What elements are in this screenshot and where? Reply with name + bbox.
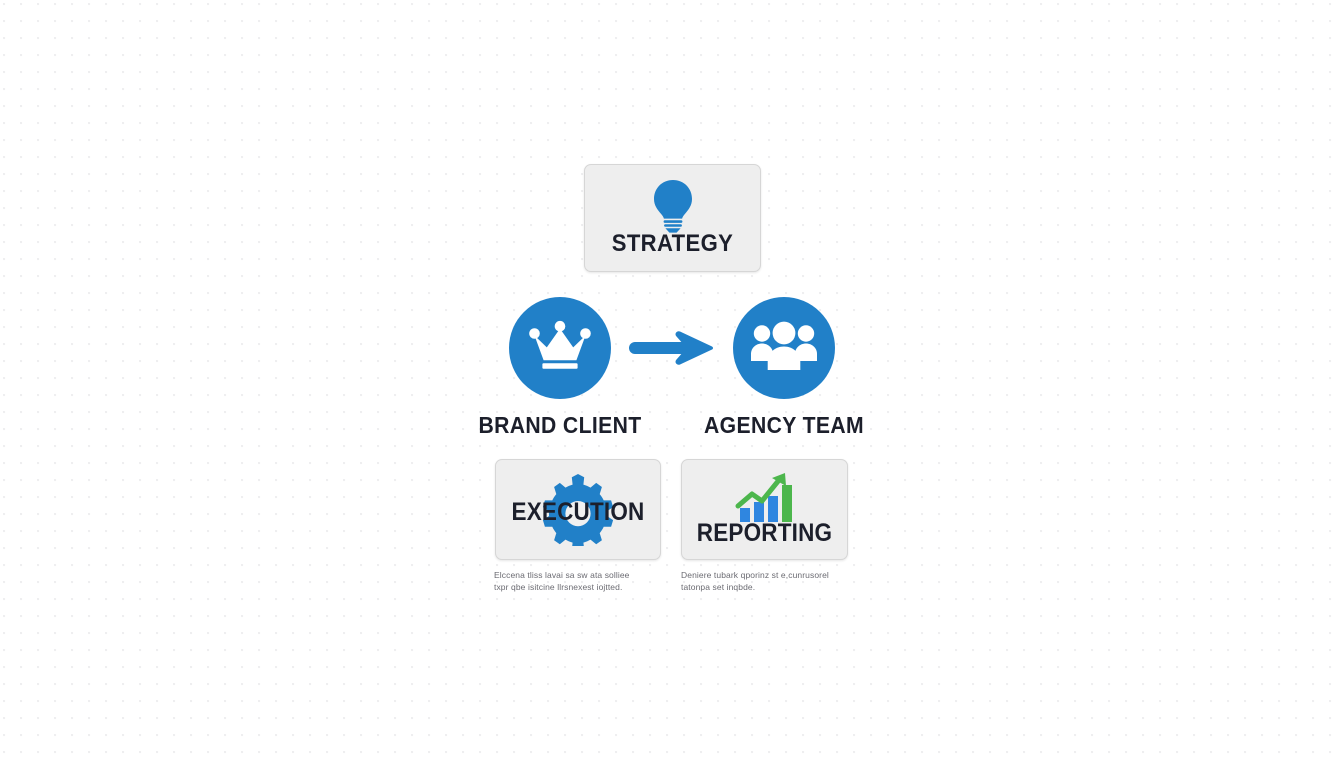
reporting-card[interactable]: REPORTING: [681, 459, 848, 560]
arrow-right-icon: [628, 326, 716, 370]
strategy-card[interactable]: STRATEGY: [584, 164, 761, 272]
crown-icon: [529, 320, 591, 377]
execution-label: EXECUTION: [504, 498, 652, 527]
lightbulb-icon: [650, 179, 696, 233]
execution-caption: Elccena tliss lavai sa sw ata solliee tx…: [494, 569, 654, 593]
bar-chart-growth-icon: [732, 472, 798, 522]
agency-team-node[interactable]: AGENCY TEAM: [733, 297, 835, 399]
brand-client-node[interactable]: BRAND CLIENT: [509, 297, 611, 399]
brand-client-circle: [509, 297, 611, 399]
execution-card-inner: EXECUTION: [496, 460, 660, 559]
diagram-canvas: STRATEGY BRAND CLIENT: [0, 0, 1344, 768]
execution-caption-line-1: Elccena tliss lavai sa sw ata solliee: [494, 569, 654, 581]
reporting-caption-line-1: Deniere tubark qporinz st e,cunrusorel: [681, 569, 841, 581]
people-group-icon: [751, 320, 817, 377]
reporting-label: REPORTING: [690, 519, 839, 548]
agency-team-circle: [733, 297, 835, 399]
agency-team-label: AGENCY TEAM: [704, 412, 864, 439]
reporting-card-inner: REPORTING: [682, 460, 847, 559]
reporting-caption: Deniere tubark qporinz st e,cunrusorel t…: [681, 569, 841, 593]
execution-caption-line-2: txpr qbe isitcine llrsnexest iojtted.: [494, 581, 654, 593]
execution-card[interactable]: EXECUTION: [495, 459, 661, 560]
strategy-label: STRATEGY: [592, 230, 753, 258]
strategy-card-inner: STRATEGY: [585, 165, 760, 271]
reporting-caption-line-2: tatonpa set inqbde.: [681, 581, 841, 593]
brand-client-label: BRAND CLIENT: [478, 412, 641, 439]
